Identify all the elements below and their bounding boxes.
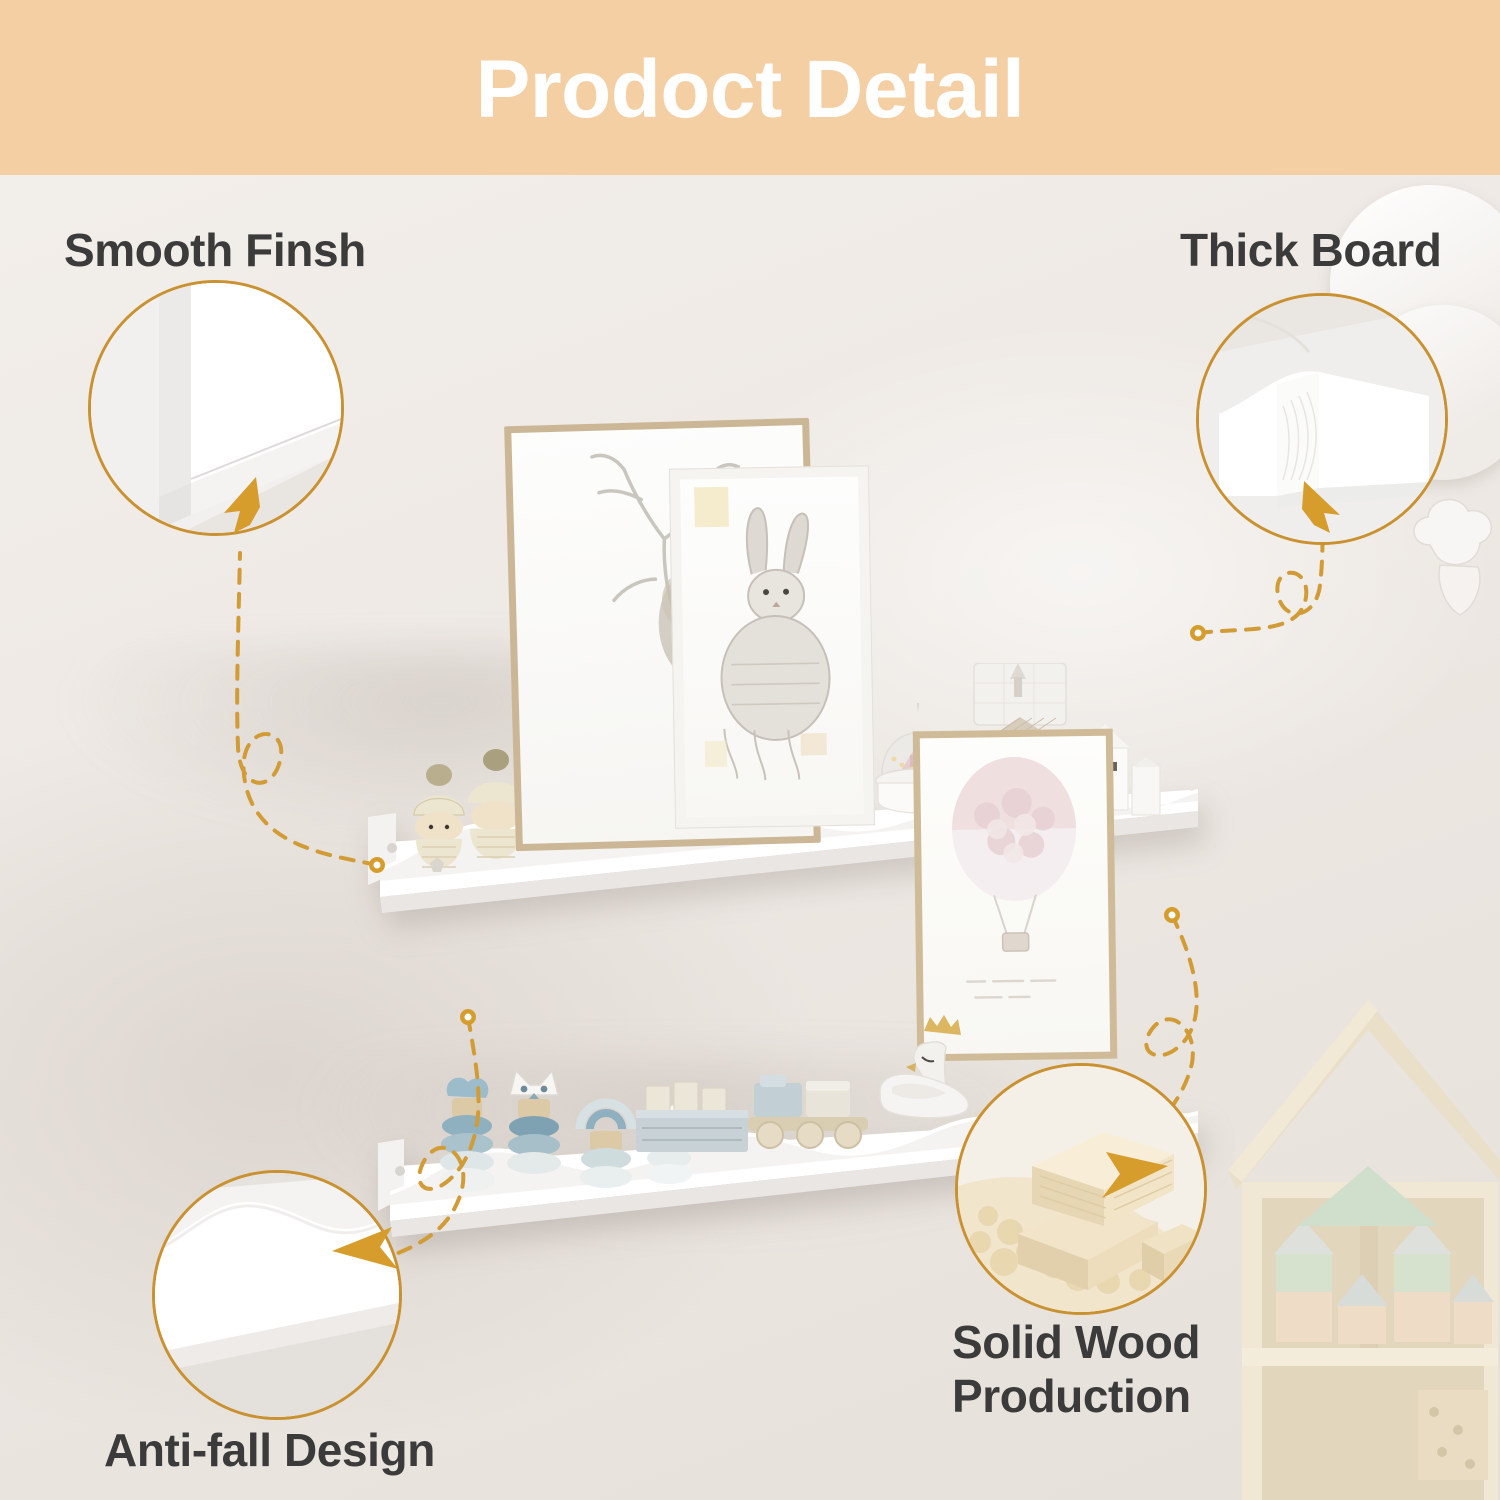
arrow-thick-board-icon xyxy=(1290,475,1352,537)
arrow-anti-fall-icon xyxy=(330,1225,400,1277)
arrow-smooth-finish-icon xyxy=(212,473,272,537)
product-scene: Smooth Finsh Thick Board Anti-fall Desig… xyxy=(0,175,1500,1500)
header-banner: Prodoct Detail xyxy=(0,0,1500,175)
white-house-figurine xyxy=(1128,755,1164,817)
wooden-crate-with-blocks xyxy=(628,1080,758,1172)
page-title: Prodoct Detail xyxy=(476,49,1025,131)
stacking-ring-toy-cloud xyxy=(432,1070,502,1198)
framed-hot-air-balloon-print xyxy=(913,729,1118,1062)
label-solid-wood-production: Solid Wood Production xyxy=(952,1315,1200,1424)
wooden-pull-train xyxy=(748,1073,878,1169)
framed-rabbit-art-print xyxy=(669,465,875,828)
arrow-solid-wood-icon xyxy=(1098,1150,1170,1206)
label-anti-fall-design: Anti-fall Design xyxy=(104,1423,435,1477)
fox-stacking-toy xyxy=(498,1065,570,1185)
label-thick-board: Thick Board xyxy=(1180,223,1441,277)
dollhouse-bookshelf xyxy=(1218,960,1500,1500)
callout-anti-fall-design xyxy=(152,1170,402,1420)
product-detail-infographic: Prodoct Detail xyxy=(0,0,1500,1500)
label-smooth-finish: Smooth Finsh xyxy=(64,223,366,277)
